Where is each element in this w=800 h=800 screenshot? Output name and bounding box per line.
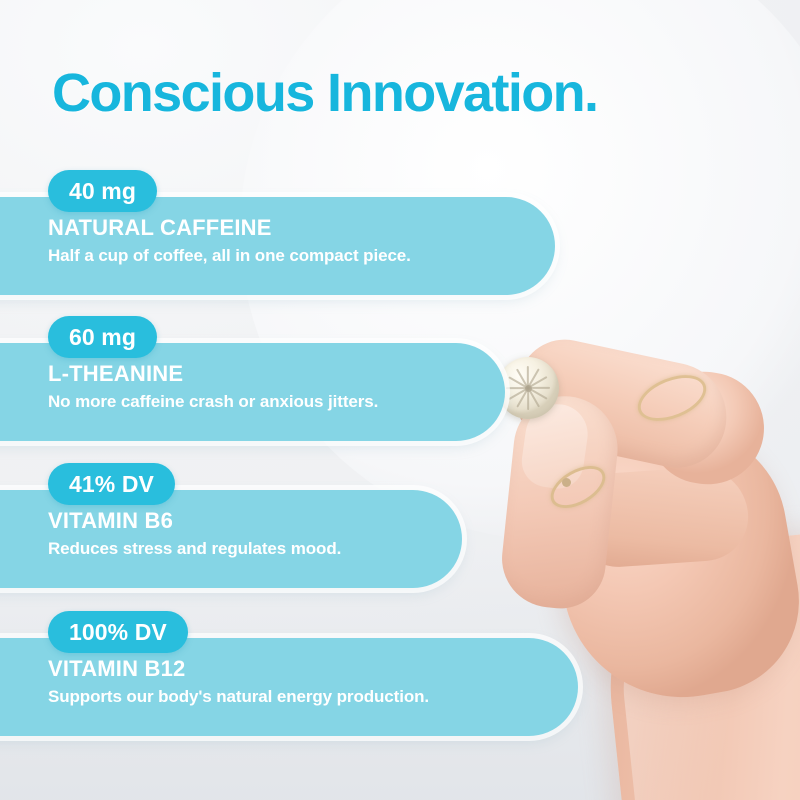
content-layer: Conscious Innovation. NATURAL CAFFEINE H…	[0, 0, 800, 800]
ingredient-card-text: VITAMIN B12 Supports our body's natural …	[48, 656, 429, 707]
ingredient-card-text: L-THEANINE No more caffeine crash or anx…	[48, 361, 378, 412]
ingredient-title: L-THEANINE	[48, 361, 378, 387]
ingredient-title: VITAMIN B6	[48, 508, 341, 534]
ingredient-card-text: NATURAL CAFFEINE Half a cup of coffee, a…	[48, 215, 411, 266]
dosage-badge-natural-caffeine: 40 mg	[48, 170, 157, 212]
ingredient-description: Half a cup of coffee, all in one compact…	[48, 246, 411, 266]
ingredient-title: VITAMIN B12	[48, 656, 429, 682]
ingredient-description: No more caffeine crash or anxious jitter…	[48, 392, 378, 412]
product-infographic: Conscious Innovation. NATURAL CAFFEINE H…	[0, 0, 800, 800]
ingredient-title: NATURAL CAFFEINE	[48, 215, 411, 241]
dosage-badge-l-theanine: 60 mg	[48, 316, 157, 358]
page-title: Conscious Innovation.	[52, 62, 597, 124]
ingredient-description: Reduces stress and regulates mood.	[48, 539, 341, 559]
dosage-badge-vitamin-b12: 100% DV	[48, 611, 188, 653]
ingredient-description: Supports our body's natural energy produ…	[48, 687, 429, 707]
dosage-badge-vitamin-b6: 41% DV	[48, 463, 175, 505]
ingredient-card-text: VITAMIN B6 Reduces stress and regulates …	[48, 508, 341, 559]
